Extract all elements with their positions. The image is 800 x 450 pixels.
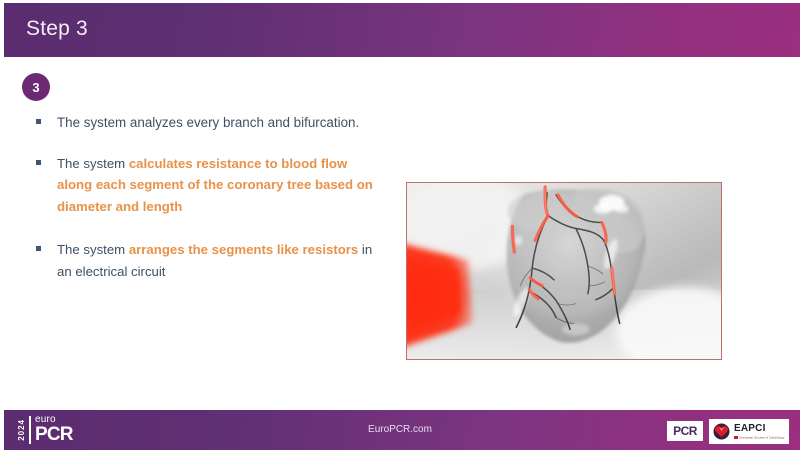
eapci-heart-icon xyxy=(713,423,730,440)
list-item: The system calculates resistance to bloo… xyxy=(36,153,386,218)
square-bullet-icon xyxy=(36,160,41,165)
bullet-segment-plain: The system analyzes every branch and bif… xyxy=(57,115,359,130)
bullet-segment-plain: The system xyxy=(57,242,129,257)
eapci-subtitle-bar-icon xyxy=(734,436,738,439)
list-item: The system analyzes every branch and bif… xyxy=(36,112,386,134)
pcr-logo-badge: PCR xyxy=(667,421,703,441)
coronary-tree-figure xyxy=(406,182,722,360)
step-number-badge: 3 xyxy=(22,73,50,101)
bullet-segment-highlight: arranges the segments like resistors xyxy=(129,242,358,257)
eapci-subtitle-text: European Society of Cardiology xyxy=(740,435,785,439)
step-number-label: 3 xyxy=(32,80,39,95)
square-bullet-icon xyxy=(36,246,41,251)
list-item: The system arranges the segments like re… xyxy=(36,239,386,282)
bullet-segment-plain: The system xyxy=(57,156,129,171)
eapci-name-label: EAPCI xyxy=(734,424,785,434)
square-bullet-icon xyxy=(36,119,41,124)
eapci-text-column: EAPCI European Society of Cardiology xyxy=(734,424,785,439)
slide-header-bar: Step 3 xyxy=(4,3,800,57)
page-title: Step 3 xyxy=(26,17,88,41)
coronary-tree-3d-heart-render xyxy=(407,183,721,359)
presentation-slide: Step 3 3 The system analyzes every branc… xyxy=(0,0,800,450)
list-item-text: The system analyzes every branch and bif… xyxy=(57,112,386,134)
pcr-logo-label: PCR xyxy=(673,424,697,438)
bullet-list: The system analyzes every branch and bif… xyxy=(36,112,386,301)
eapci-logo-badge: EAPCI European Society of Cardiology xyxy=(709,419,789,444)
list-item-text: The system arranges the segments like re… xyxy=(57,239,386,282)
eapci-subtitle-label: European Society of Cardiology xyxy=(734,436,785,439)
list-item-text: The system calculates resistance to bloo… xyxy=(57,153,386,218)
